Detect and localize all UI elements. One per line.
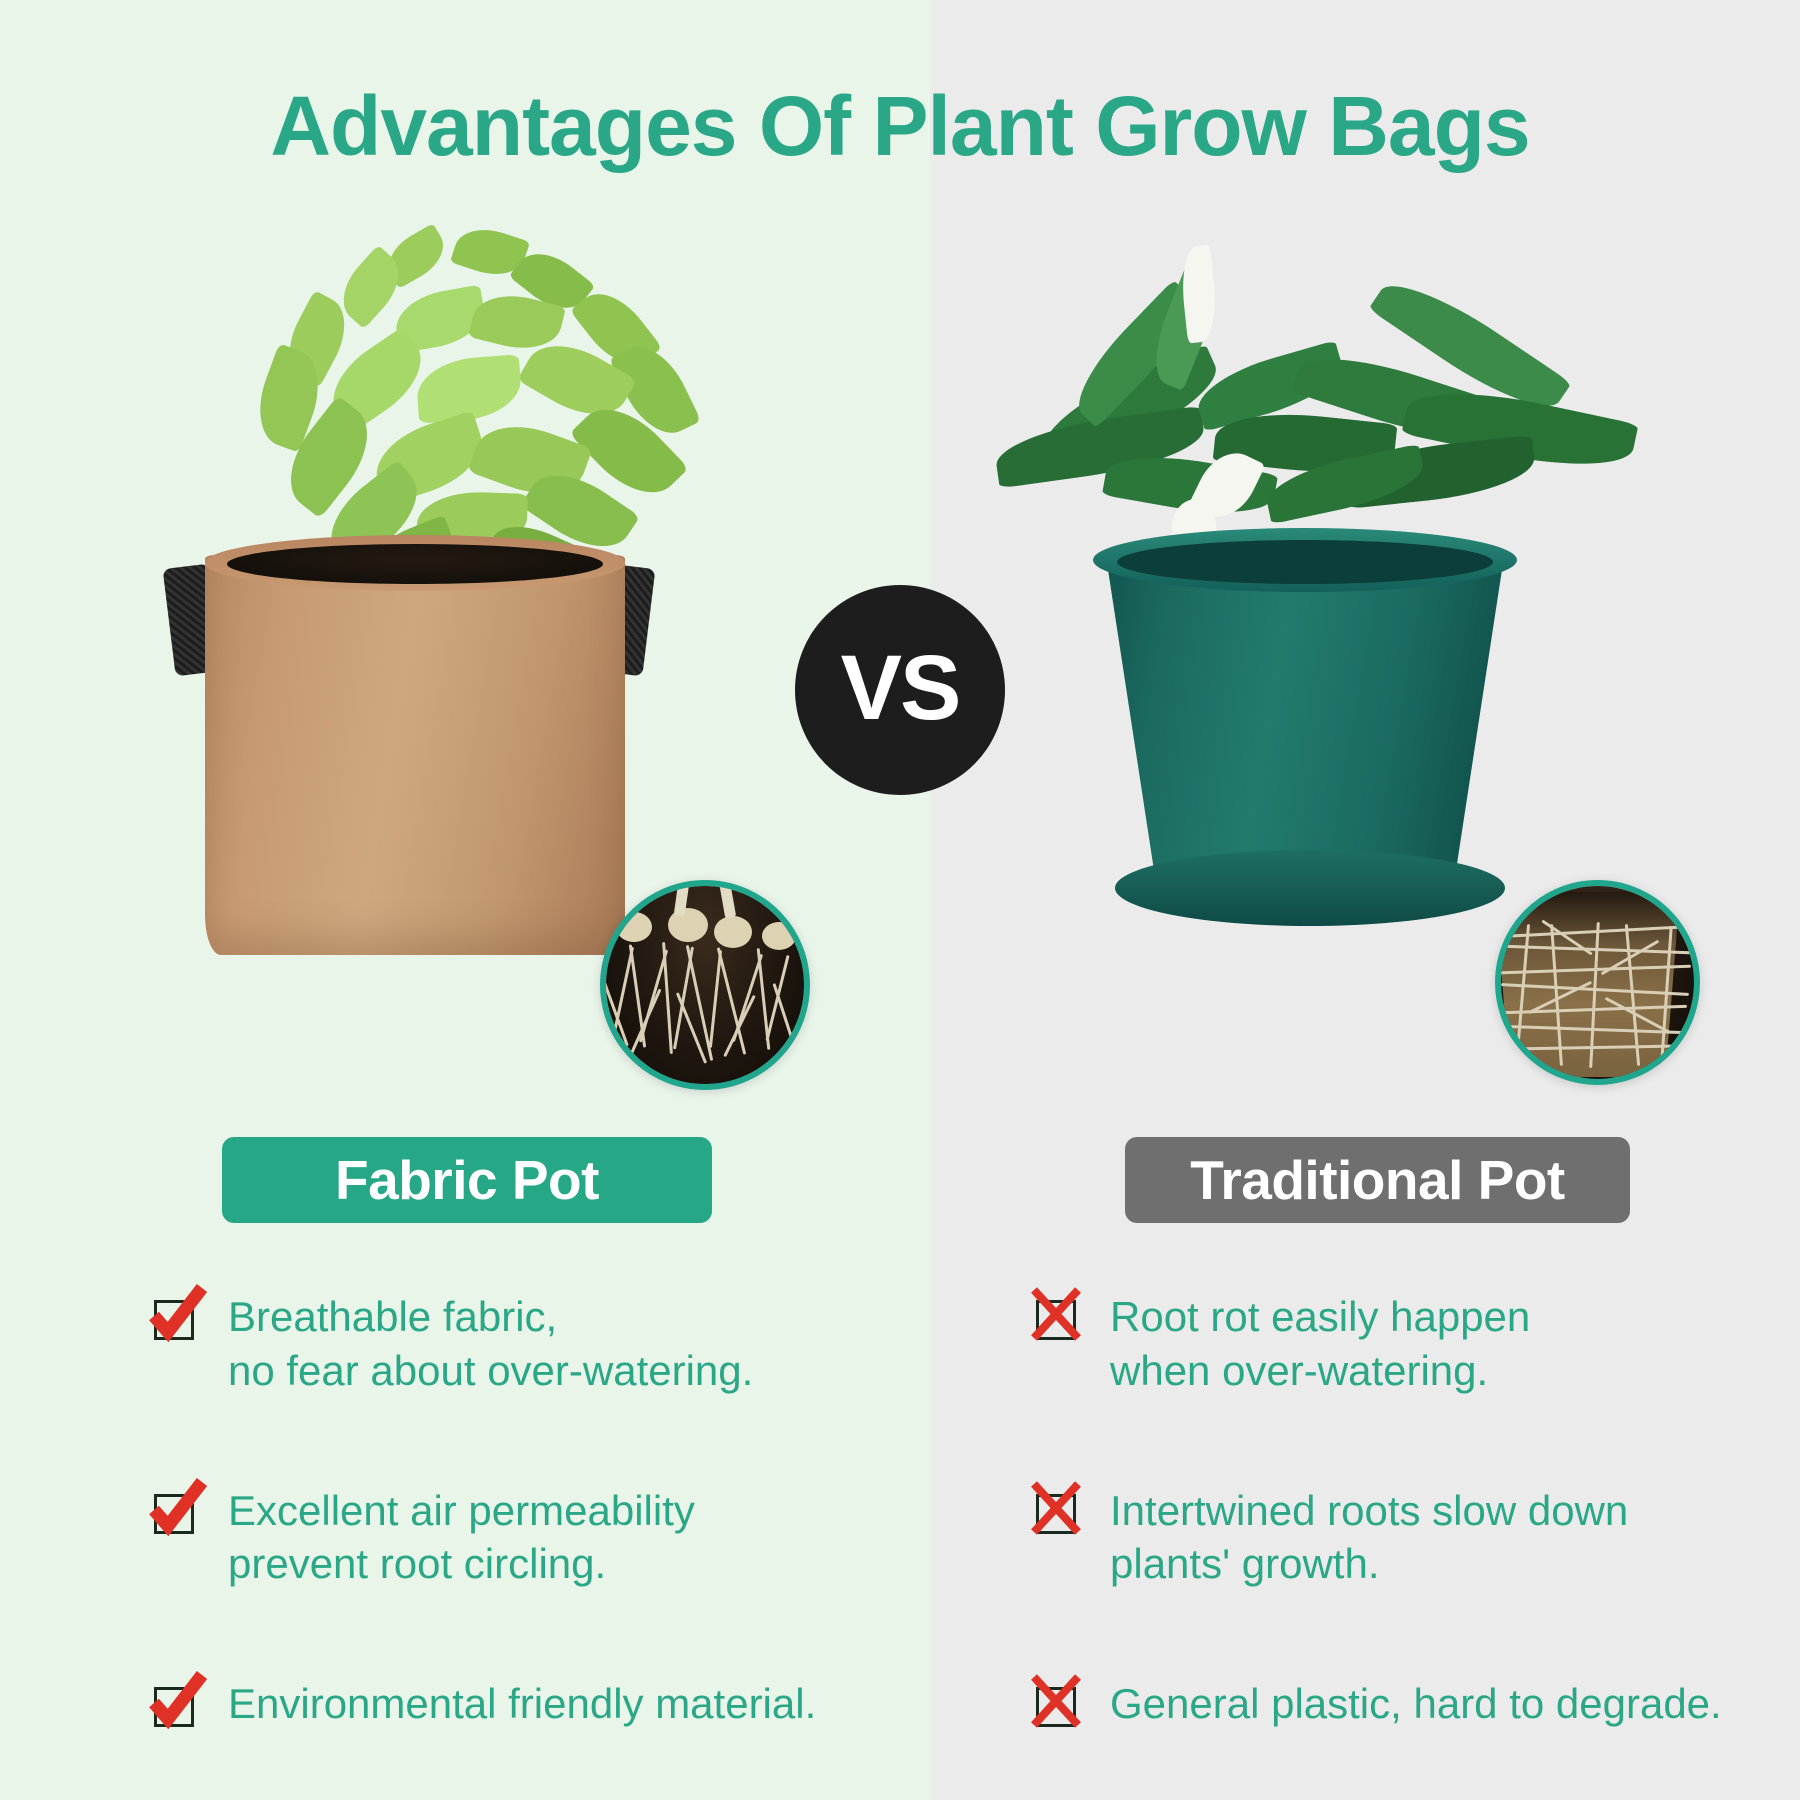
grow-bag-soil	[227, 544, 603, 584]
cross-icon	[1030, 1294, 1082, 1346]
infographic-canvas: Advantages Of Plant Grow Bags	[0, 0, 1800, 1800]
list-item-text: Excellent air permeability prevent root …	[228, 1484, 695, 1592]
plastic-pot-body	[1105, 550, 1505, 890]
traditional-pot-drawback-list: Root rot easily happen when over-waterin…	[1030, 1290, 1790, 1733]
traditional-pot-caption-badge: Traditional Pot	[1125, 1137, 1630, 1223]
page-title: Advantages Of Plant Grow Bags	[0, 78, 1800, 175]
traditional-pot-root-inset	[1495, 880, 1700, 1085]
fabric-pot-benefit-list: Breathable fabric, no fear about over-wa…	[148, 1290, 908, 1733]
cross-icon	[1030, 1681, 1082, 1733]
checkmark-icon	[148, 1488, 200, 1540]
list-item: Intertwined roots slow down plants' grow…	[1030, 1484, 1790, 1592]
cross-icon	[1030, 1488, 1082, 1540]
vs-label: VS	[841, 642, 960, 734]
vs-badge: VS	[795, 585, 1005, 795]
list-item-text: Root rot easily happen when over-waterin…	[1110, 1290, 1530, 1398]
list-item-text: Intertwined roots slow down plants' grow…	[1110, 1484, 1628, 1592]
list-item: Environmental friendly material.	[148, 1677, 908, 1733]
traditional-pot-caption-label: Traditional Pot	[1190, 1148, 1564, 1212]
checkmark-icon	[148, 1294, 200, 1346]
checkmark-icon	[148, 1681, 200, 1733]
list-item: Breathable fabric, no fear about over-wa…	[148, 1290, 908, 1398]
fabric-pot-root-inset	[600, 880, 810, 1090]
list-item: General plastic, hard to degrade.	[1030, 1677, 1790, 1733]
plastic-pot-saucer	[1115, 850, 1505, 926]
list-item-text: General plastic, hard to degrade.	[1110, 1677, 1722, 1731]
list-item-text: Breathable fabric, no fear about over-wa…	[228, 1290, 753, 1398]
fabric-pot-caption-badge: Fabric Pot	[222, 1137, 712, 1223]
fabric-pot-caption-label: Fabric Pot	[335, 1148, 599, 1212]
list-item: Excellent air permeability prevent root …	[148, 1484, 908, 1592]
list-item: Root rot easily happen when over-waterin…	[1030, 1290, 1790, 1398]
list-item-text: Environmental friendly material.	[228, 1677, 816, 1731]
plastic-pot-inner	[1117, 540, 1493, 584]
grow-bag-body	[205, 555, 625, 955]
